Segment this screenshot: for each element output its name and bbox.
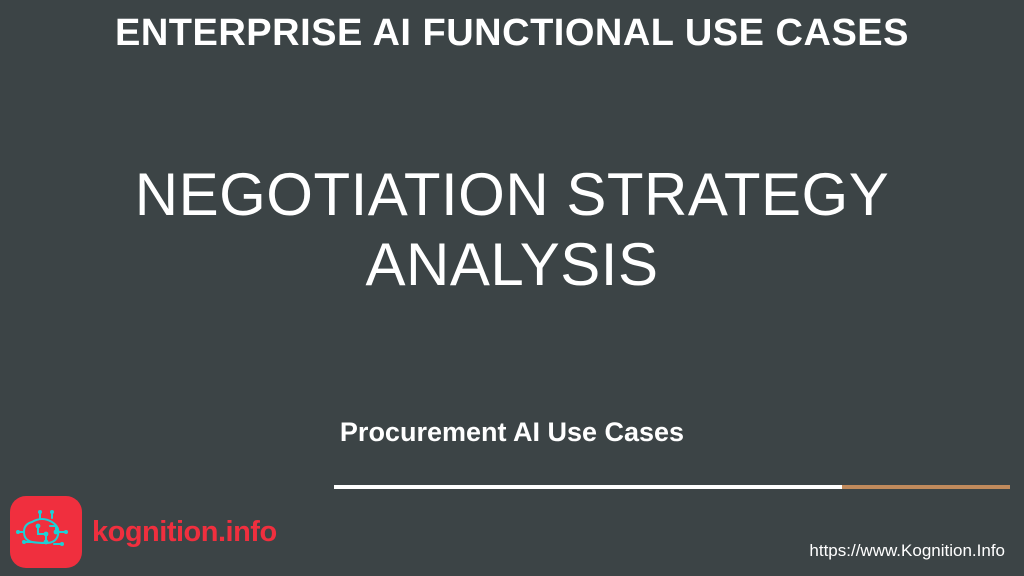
brand-lockup: kognition.info — [10, 496, 277, 568]
slide-root: ENTERPRISE AI FUNCTIONAL USE CASES NEGOT… — [0, 0, 1024, 576]
slide-eyebrow: ENTERPRISE AI FUNCTIONAL USE CASES — [0, 10, 1024, 56]
brand-name: kognition.info — [92, 515, 277, 549]
divider-rule — [334, 485, 1010, 489]
divider-rule-primary — [334, 485, 842, 489]
circuit-brain-icon — [10, 496, 82, 568]
slide-subtitle: Procurement AI Use Cases — [0, 415, 1024, 449]
page-title: NEGOTIATION STRATEGY ANALYSIS — [62, 160, 962, 300]
divider-rule-accent — [842, 485, 1010, 489]
